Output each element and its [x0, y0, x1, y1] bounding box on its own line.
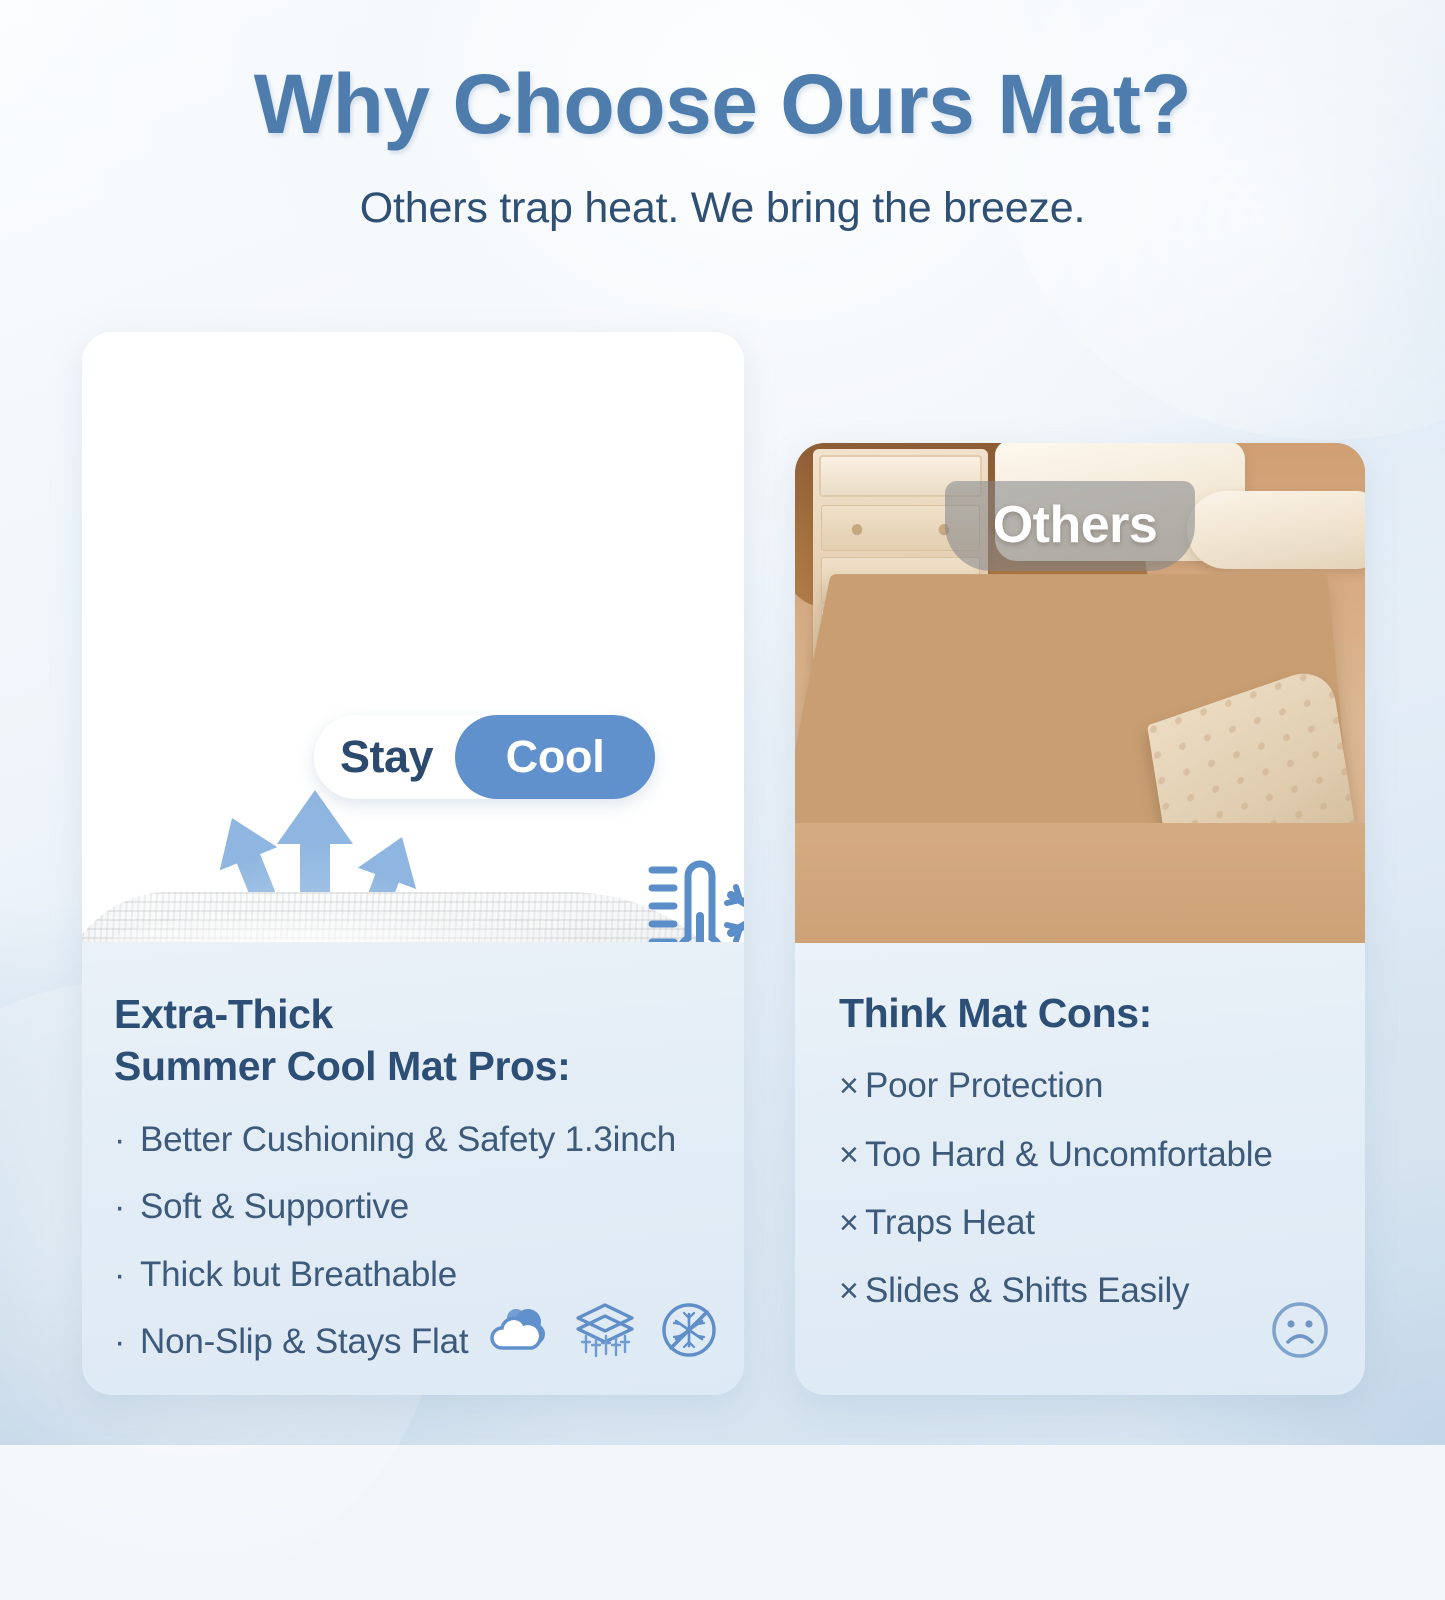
list-item-label: Thick but Breathable: [140, 1254, 457, 1295]
others-mat-photo: Others: [795, 443, 1365, 943]
list-item-label: Better Cushioning & Safety 1.3inch: [140, 1119, 676, 1160]
cooling-mat-illustration: Stay Cool: [82, 332, 744, 942]
badge-static-label: Stay: [340, 731, 455, 783]
list-item: · Better Cushioning & Safety 1.3inch: [114, 1119, 710, 1160]
ours-mat-heading-line2: Summer Cool Mat Pros:: [114, 1043, 570, 1089]
ours-mat-heading: Extra-Thick Summer Cool Mat Pros:: [114, 988, 710, 1093]
bed-bolster-pillow: [1187, 491, 1365, 569]
ours-mat-heading-line1: Extra-Thick: [114, 991, 333, 1037]
cloud-soft-icon: [488, 1304, 550, 1356]
badge-highlight-pill: Cool: [455, 715, 655, 799]
list-item-label: Non-Slip & Stays Flat: [140, 1321, 468, 1362]
list-item: · Soft & Supportive: [114, 1186, 710, 1227]
snowflake-icon: [727, 876, 744, 942]
list-item-label: Slides & Shifts Easily: [865, 1270, 1189, 1311]
list-item: · Thick but Breathable: [114, 1254, 710, 1295]
page-subtitle: Others trap heat. We bring the breeze.: [0, 184, 1445, 233]
bed-mattress-foot: [795, 823, 1365, 943]
bullet-icon: ·: [114, 1322, 140, 1362]
drawer-knob-icon: [852, 524, 862, 534]
others-mat-feature-icons: [1269, 1299, 1331, 1361]
others-mat-heading: Think Mat Cons:: [839, 987, 1337, 1039]
page-title: Why Choose Ours Mat?: [0, 62, 1445, 146]
breathable-layers-icon: [572, 1302, 638, 1358]
cross-icon: ×: [839, 1135, 865, 1175]
others-mat-card: Others Think Mat Cons: × Poor Protection…: [795, 443, 1365, 1395]
cons-list: × Poor Protection × Too Hard & Uncomfort…: [839, 1065, 1337, 1311]
bullet-icon: ·: [114, 1187, 140, 1227]
anti-bacteria-icon: [660, 1301, 718, 1359]
page-header: Why Choose Ours Mat? Others trap heat. W…: [0, 62, 1445, 233]
bullet-icon: ·: [114, 1255, 140, 1295]
list-item: × Traps Heat: [839, 1202, 1337, 1243]
list-item-label: Traps Heat: [865, 1202, 1035, 1243]
cooling-indicator-group: [644, 856, 744, 942]
others-label: Others: [950, 495, 1200, 555]
ours-mat-details: Extra-Thick Summer Cool Mat Pros: · Bett…: [82, 942, 744, 1395]
stay-cool-badge: Stay Cool: [314, 715, 655, 799]
list-item-label: Too Hard & Uncomfortable: [865, 1134, 1273, 1175]
cross-icon: ×: [839, 1203, 865, 1243]
ours-mat-feature-icons: [488, 1301, 718, 1359]
cross-icon: ×: [839, 1271, 865, 1311]
list-item: × Slides & Shifts Easily: [839, 1270, 1337, 1311]
ours-mat-photo: Stay Cool: [82, 332, 744, 942]
list-item-label: Poor Protection: [865, 1065, 1103, 1106]
bedroom-photo: Others: [795, 443, 1365, 943]
sad-face-icon: [1269, 1299, 1331, 1361]
mat-highlight: [108, 910, 588, 942]
list-item-label: Soft & Supportive: [140, 1186, 409, 1227]
others-mat-details: Think Mat Cons: × Poor Protection × Too …: [795, 943, 1365, 1395]
thermometer-snowflake-icon: [644, 856, 744, 942]
list-item: × Poor Protection: [839, 1065, 1337, 1106]
list-item: × Too Hard & Uncomfortable: [839, 1134, 1337, 1175]
cross-icon: ×: [839, 1066, 865, 1106]
bullet-icon: ·: [114, 1120, 140, 1160]
ours-mat-card: Stay Cool Extra-Thick Summer Cool Mat Pr…: [82, 332, 744, 1395]
